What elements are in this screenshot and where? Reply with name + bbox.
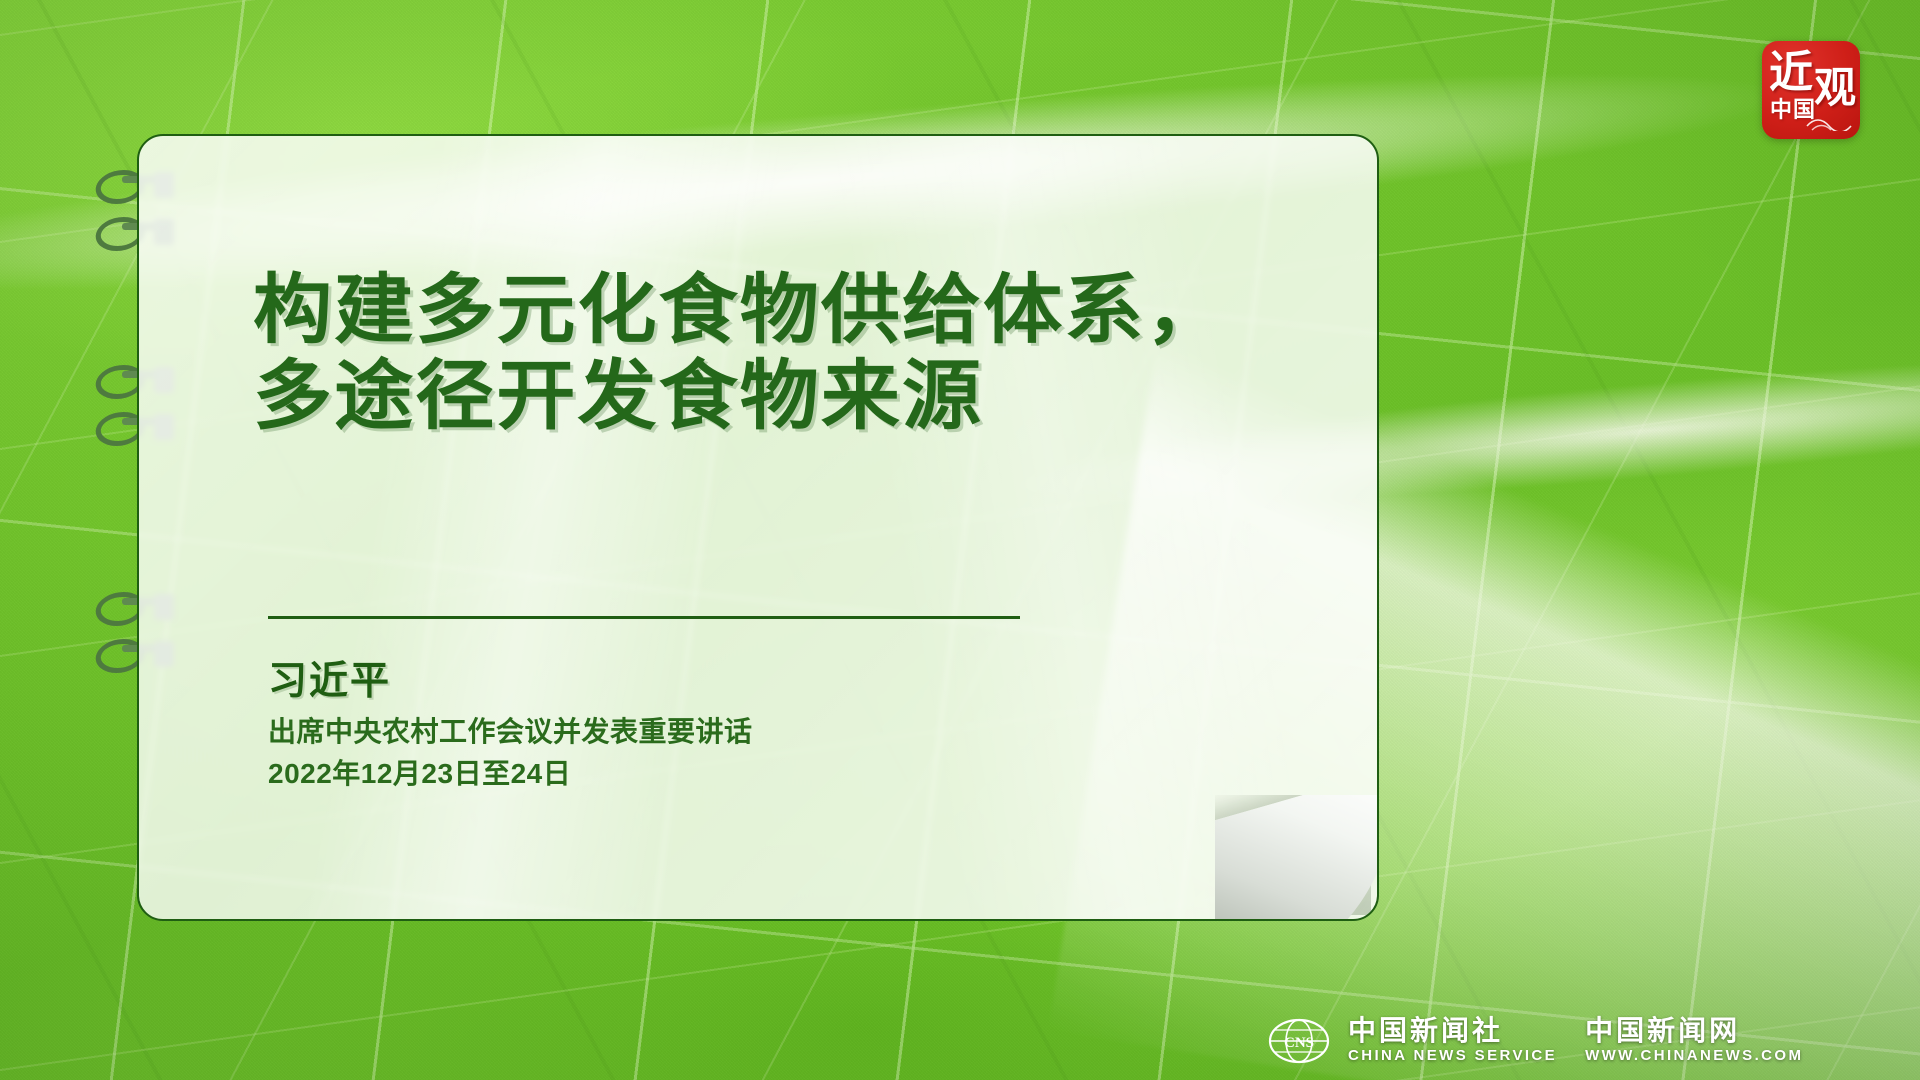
cns-footer: CNS 中国新闻社 CHINA NEWS SERVICE 中国新闻网 WWW.C… [1268, 1012, 1803, 1070]
agency-name-en: CHINA NEWS SERVICE [1348, 1047, 1557, 1065]
speech-date: 2022年12月23日至24日 [268, 752, 571, 792]
poster-canvas: 构建多元化食物供给体系， 多途径开发食物来源 习近平 出席中央农村工作会议并发表… [0, 0, 1920, 1080]
badge-char-guan: 观 [1814, 67, 1856, 109]
agency-name-cn: 中国新闻社 [1348, 1017, 1557, 1047]
cns-globe-icon: CNS [1268, 1018, 1330, 1064]
headline: 构建多元化食物供给体系， 多途径开发食物来源 [253, 268, 1272, 440]
jinguan-zhongguo-badge[interactable]: 近 观 中国 [1762, 41, 1860, 139]
svg-text:CNS: CNS [1284, 1035, 1314, 1051]
wave-decoration-icon [1806, 115, 1852, 131]
site-brand[interactable]: 中国新闻网 WWW.CHINANEWS.COM [1585, 1017, 1803, 1065]
card-sheen-overlay [139, 136, 1377, 919]
headline-divider [268, 616, 1020, 619]
headline-line-1: 构建多元化食物供给体系， [253, 268, 1272, 354]
agency-brand: 中国新闻社 CHINA NEWS SERVICE [1348, 1017, 1557, 1065]
site-url-en: WWW.CHINANEWS.COM [1585, 1047, 1803, 1065]
speech-occasion: 出席中央农村工作会议并发表重要讲话 [268, 710, 753, 750]
page-curl-corner [1215, 795, 1379, 921]
speaker-name: 习近平 [268, 650, 391, 706]
headline-line-2: 多途径开发食物来源 [253, 354, 1272, 440]
badge-char-jin: 近 [1769, 51, 1812, 95]
site-name-cn: 中国新闻网 [1585, 1017, 1803, 1047]
page-curl-fold [1215, 795, 1379, 921]
quote-card [137, 134, 1379, 921]
